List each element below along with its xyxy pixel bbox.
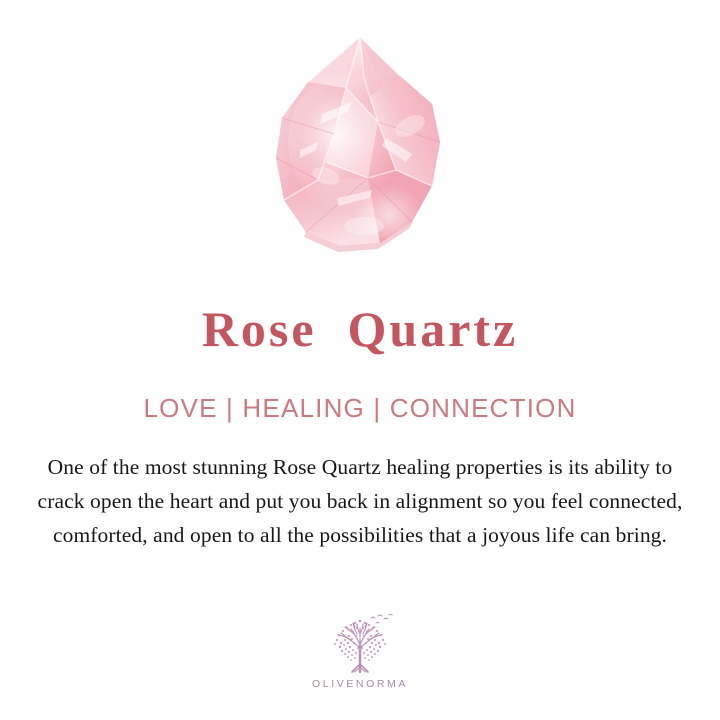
promo-card: Rose Quartz LOVE | HEALING | CONNECTION … (0, 0, 720, 720)
brand-footer: OLIVENORMA (0, 612, 720, 690)
keywords-subtitle: LOVE | HEALING | CONNECTION (0, 392, 720, 424)
page-title: Rose Quartz (0, 300, 720, 358)
rose-quartz-crystal-image (0, 30, 720, 265)
brand-name: OLIVENORMA (312, 678, 408, 690)
description-paragraph: One of the most stunning Rose Quartz hea… (28, 450, 692, 552)
rose-quartz-crystal-illustration (260, 30, 460, 260)
tree-of-life-icon (321, 612, 399, 676)
